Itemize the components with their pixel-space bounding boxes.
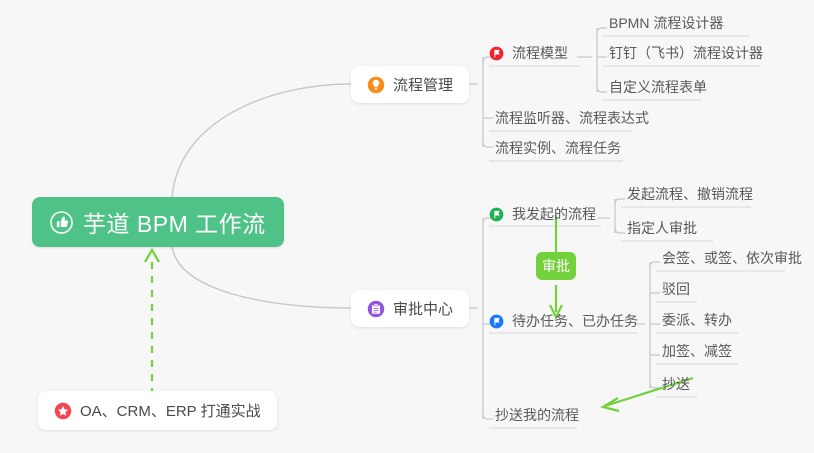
leaf-add-remove-sign[interactable]: 加签、减签 xyxy=(656,340,738,364)
leaf-process-instance-task[interactable]: 流程实例、流程任务 xyxy=(489,137,627,161)
leaf-custom-form[interactable]: 自定义流程表单 xyxy=(603,76,713,100)
flag-icon xyxy=(489,314,504,329)
leaf-label: 委派、转办 xyxy=(662,310,732,330)
footnote-node[interactable]: OA、CRM、ERP 打通实战 xyxy=(38,391,277,430)
branch-label: 审批中心 xyxy=(393,298,453,319)
thumbs-up-icon xyxy=(50,211,73,234)
leaf-cc-to-me-processes[interactable]: 抄送我的流程 xyxy=(489,404,585,428)
lightbulb-icon xyxy=(367,76,385,94)
root-node[interactable]: 芋道 BPM 工作流 xyxy=(32,197,284,247)
leaf-label: 发起流程、撤销流程 xyxy=(627,184,753,204)
leaf-label: 驳回 xyxy=(662,279,690,299)
node-my-initiated-processes[interactable]: 我发起的流程 xyxy=(489,202,596,226)
leaf-process-listener-expression[interactable]: 流程监听器、流程表达式 xyxy=(489,107,655,131)
node-todo-done-tasks[interactable]: 待办任务、已办任务 xyxy=(489,309,638,333)
leaf-label: 指定人审批 xyxy=(627,218,697,238)
branch-node-approval-center[interactable]: 审批中心 xyxy=(351,290,469,327)
footnote-label: OA、CRM、ERP 打通实战 xyxy=(80,400,261,421)
leaf-label: 抄送 xyxy=(662,374,690,394)
mindmap-canvas: 芋道 BPM 工作流 OA、CRM、ERP 打通实战 流程管理 xyxy=(0,0,814,453)
annotation-tag-approval[interactable]: 审批 xyxy=(536,252,576,280)
leaf-label: 会签、或签、依次审批 xyxy=(662,248,802,268)
leaf-dingtalk-designer[interactable]: 钉钉（飞书）流程设计器 xyxy=(603,42,769,66)
node-label: 我发起的流程 xyxy=(512,204,596,224)
leaf-label: 加签、减签 xyxy=(662,341,732,361)
leaf-delegate-transfer[interactable]: 委派、转办 xyxy=(656,309,738,333)
flag-icon xyxy=(489,207,504,222)
branch-node-process-management[interactable]: 流程管理 xyxy=(351,66,469,103)
node-label: 待办任务、已办任务 xyxy=(512,311,638,331)
leaf-start-cancel-process[interactable]: 发起流程、撤销流程 xyxy=(621,183,759,207)
leaf-countersign-approval[interactable]: 会签、或签、依次审批 xyxy=(656,247,808,271)
branch-label: 流程管理 xyxy=(393,74,453,95)
leaf-label: BPMN 流程设计器 xyxy=(609,13,723,33)
node-label: 流程模型 xyxy=(512,43,568,63)
leaf-assignee-approval[interactable]: 指定人审批 xyxy=(621,217,703,241)
clipboard-icon xyxy=(367,300,385,318)
leaf-bpmn-designer[interactable]: BPMN 流程设计器 xyxy=(603,12,729,36)
node-process-model[interactable]: 流程模型 xyxy=(489,41,568,65)
star-icon xyxy=(54,402,72,420)
leaf-reject[interactable]: 驳回 xyxy=(656,278,696,302)
leaf-label: 流程监听器、流程表达式 xyxy=(495,108,649,128)
leaf-label: 自定义流程表单 xyxy=(609,77,707,97)
leaf-label: 抄送我的流程 xyxy=(495,405,579,425)
root-label: 芋道 BPM 工作流 xyxy=(83,205,266,239)
flag-icon xyxy=(489,46,504,61)
leaf-cc[interactable]: 抄送 xyxy=(656,373,696,397)
leaf-label: 钉钉（飞书）流程设计器 xyxy=(609,43,763,63)
annotation-label: 审批 xyxy=(542,256,570,276)
leaf-label: 流程实例、流程任务 xyxy=(495,138,621,158)
